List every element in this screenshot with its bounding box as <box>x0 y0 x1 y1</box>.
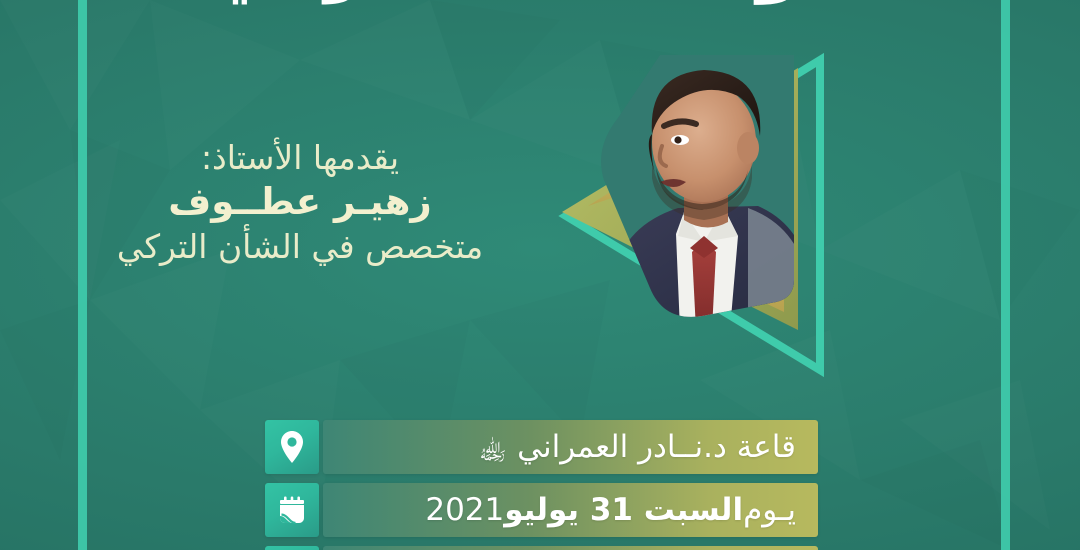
date-text-bold: السبت 31 يوليو <box>504 495 743 526</box>
location-pin-icon[interactable] <box>265 420 319 474</box>
event-details-list: قاعة د.نــادر العمراني ﵀ يـوم السبت 31 ي… <box>265 420 818 550</box>
detail-row-date: يـوم السبت 31 يوليو 2021 <box>265 483 818 537</box>
left-accent-rule <box>78 0 87 550</box>
speaker-role: متخصص في الشأن التركي <box>0 227 600 267</box>
portrait-graphic <box>552 30 852 390</box>
date-text-prefix: يـوم <box>743 495 796 526</box>
poster-canvas: ندوة الشأن التركي يقدمها الأستاذ: زهيـر … <box>0 0 1080 550</box>
speaker-name: زهيـر عطــوف <box>0 179 600 225</box>
detail-row-time <box>265 546 818 550</box>
speaker-portrait-composition <box>552 30 852 390</box>
date-text-suffix: 2021 <box>425 495 504 526</box>
venue-bar: قاعة د.نــادر العمراني ﵀ <box>323 420 818 474</box>
speaker-photo <box>592 50 812 330</box>
calendar-icon[interactable] <box>265 483 319 537</box>
right-accent-rule <box>1001 0 1010 550</box>
speaker-intro-label: يقدمها الأستاذ: <box>0 140 600 177</box>
speaker-block: يقدمها الأستاذ: زهيـر عطــوف متخصص في ال… <box>0 140 600 267</box>
clock-icon[interactable] <box>265 546 319 550</box>
date-bar: يـوم السبت 31 يوليو 2021 <box>323 483 818 537</box>
time-bar <box>323 546 818 550</box>
venue-text: قاعة د.نــادر العمراني ﵀ <box>479 432 796 463</box>
detail-row-venue: قاعة د.نــادر العمراني ﵀ <box>265 420 818 474</box>
